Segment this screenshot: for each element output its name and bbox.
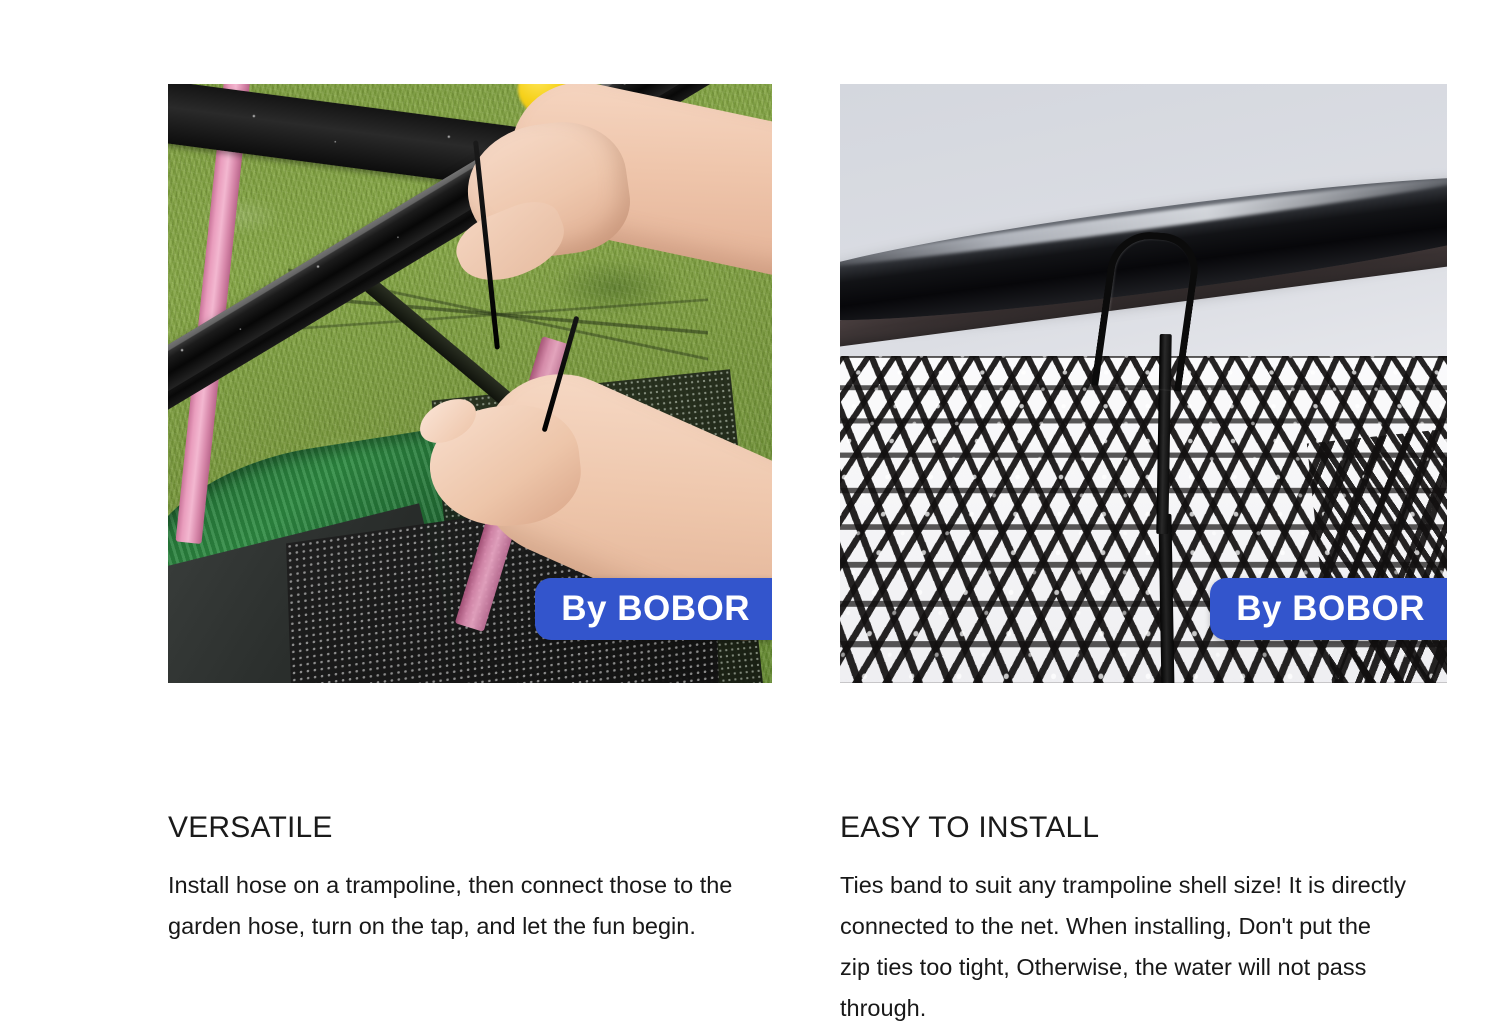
feature-card-versatile: By BOBOR VERSATILE Install hose on a tra… bbox=[168, 84, 772, 683]
product-feature-page: By BOBOR VERSATILE Install hose on a tra… bbox=[0, 0, 1492, 980]
brand-watermark-badge-left: By BOBOR bbox=[535, 578, 772, 640]
product-photo-versatile: By BOBOR bbox=[168, 84, 772, 683]
feature-card-easy-to-install: By BOBOR EASY TO INSTALL Ties band to su… bbox=[840, 84, 1447, 683]
feature-title: VERSATILE bbox=[168, 767, 772, 844]
caption-versatile: VERSATILE Install hose on a trampoline, … bbox=[168, 767, 772, 947]
brand-watermark-text: By BOBOR bbox=[1236, 589, 1425, 629]
caption-easy-to-install: EASY TO INSTALL Ties band to suit any tr… bbox=[840, 767, 1447, 1029]
brand-watermark-text: By BOBOR bbox=[561, 589, 750, 629]
feature-description: Install hose on a trampoline, then conne… bbox=[168, 844, 748, 947]
feature-description: Ties band to suit any trampoline shell s… bbox=[840, 844, 1406, 1029]
product-photo-easy-to-install: By BOBOR bbox=[840, 84, 1447, 683]
brand-watermark-badge-right: By BOBOR bbox=[1210, 578, 1447, 640]
feature-title: EASY TO INSTALL bbox=[840, 767, 1447, 844]
net-over-yellow-object bbox=[1307, 426, 1447, 683]
feature-columns: By BOBOR VERSATILE Install hose on a tra… bbox=[0, 0, 1492, 980]
